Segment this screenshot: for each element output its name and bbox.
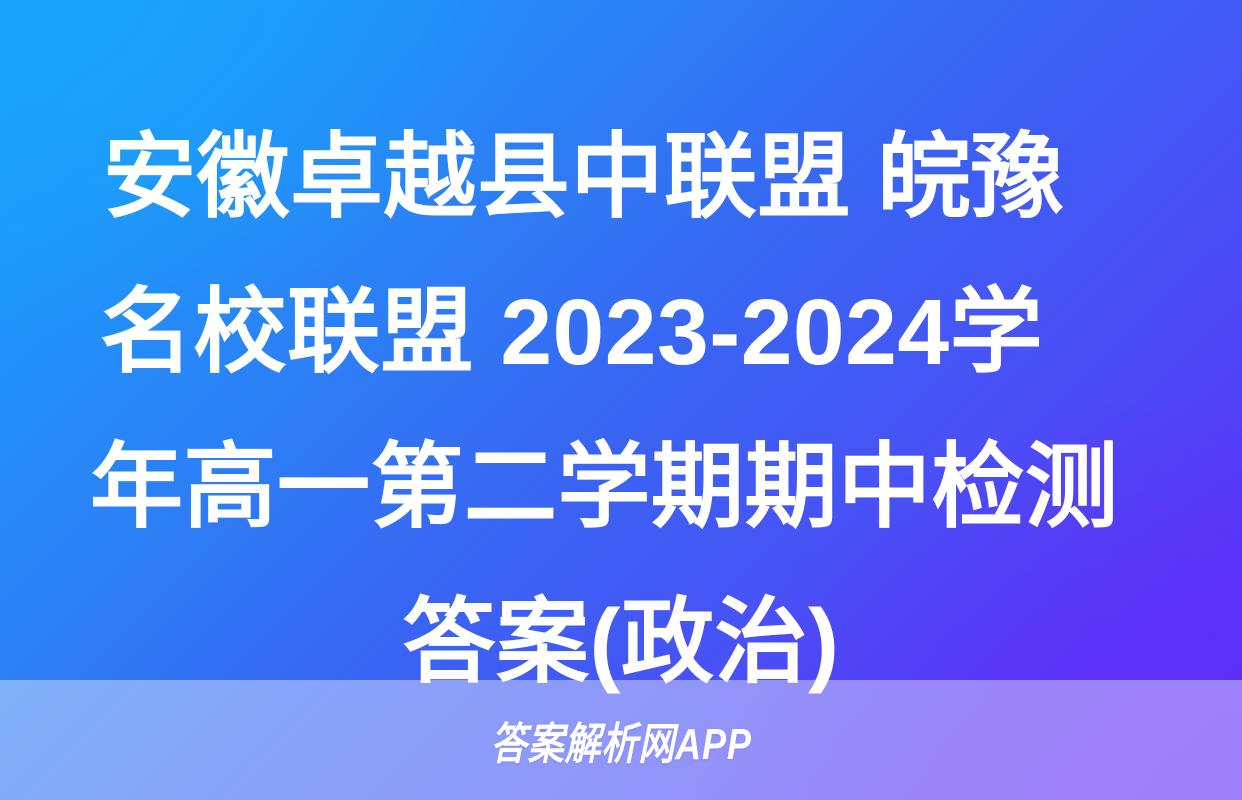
cover-card: 安徽卓越县中联盟 皖豫 名校联盟 2023-2024学 年高一第二学期期中检测 … [0,0,1242,800]
page-title: 安徽卓越县中联盟 皖豫 名校联盟 2023-2024学 年高一第二学期期中检测 … [0,0,1242,720]
watermark-app-label: 答案解析网APP [490,708,751,772]
watermark-band: 答案解析网APP [0,680,1242,800]
title-line-2: 名校联盟 2023-2024学 [100,255,1242,410]
title-line-1: 安徽卓越县中联盟 皖豫 [103,100,1242,255]
title-line-3: 年高一第二学期期中检测 [90,410,1242,565]
